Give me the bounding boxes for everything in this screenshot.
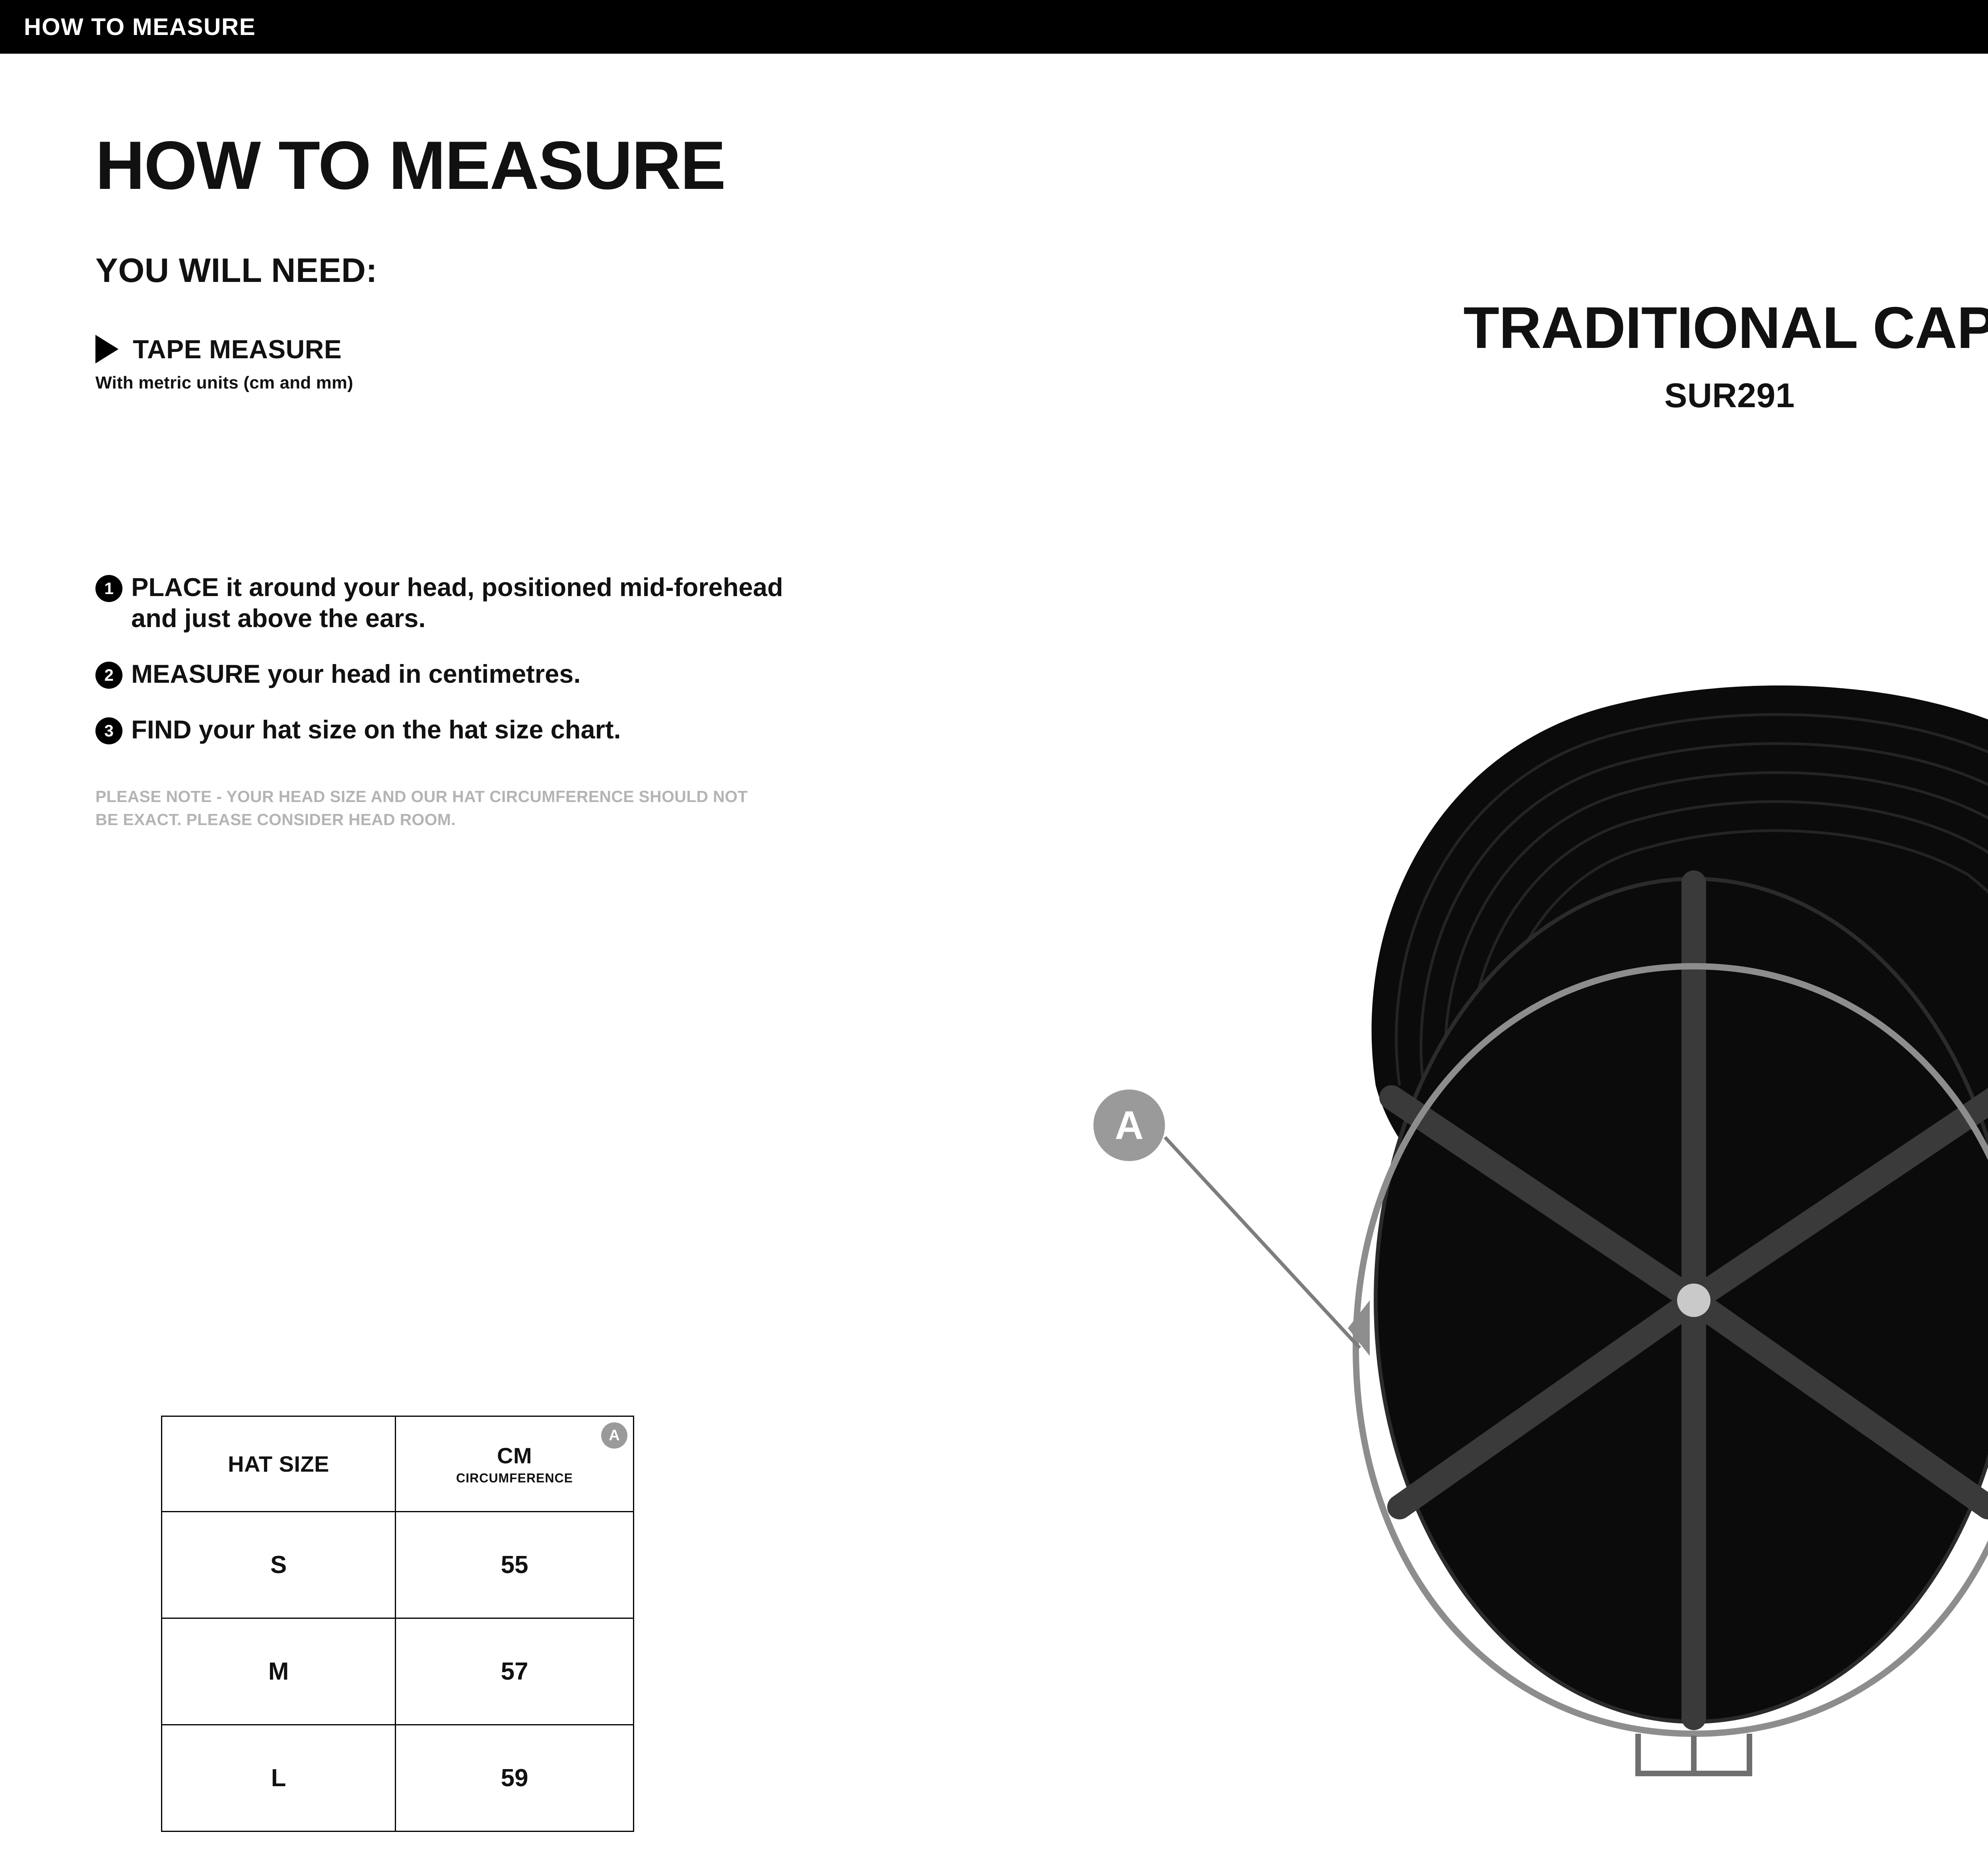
cell-cm: 55 <box>396 1512 634 1618</box>
table-row: M 57 <box>162 1618 634 1725</box>
list-item: 3 FIND your hat size on the hat size cha… <box>95 714 1010 745</box>
please-note-text: PLEASE NOTE - YOUR HEAD SIZE AND OUR HAT… <box>95 785 771 831</box>
cell-hat-size: L <box>162 1725 396 1832</box>
list-item: 1 PLACE it around your head, positioned … <box>95 572 1010 634</box>
top-bar: HOW TO MEASURE SS SURRIDGE <box>0 0 1988 54</box>
steps-list: 1 PLACE it around your head, positioned … <box>95 572 1010 745</box>
list-item: 2 MEASURE your head in centimetres. <box>95 658 1010 690</box>
table-row: L 59 <box>162 1725 634 1832</box>
product-code: SUR291 <box>1153 376 1988 416</box>
marker-a-leader-line <box>1165 1137 1360 1348</box>
step-text: MEASURE your head in centimetres. <box>131 658 581 690</box>
left-column: HOW TO MEASURE YOU WILL NEED: TAPE MEASU… <box>95 131 1010 831</box>
header-circumference-label: CIRCUMFERENCE <box>396 1471 633 1486</box>
page-title: HOW TO MEASURE <box>95 131 1010 200</box>
cell-hat-size: S <box>162 1512 396 1618</box>
tape-measure-sublabel: With metric units (cm and mm) <box>95 373 1010 393</box>
header-cm-circumference: CM CIRCUMFERENCE A <box>396 1416 634 1512</box>
step-number-badge: 1 <box>95 575 122 602</box>
cap-crown-group <box>1376 879 1988 1722</box>
cap-illustration-svg <box>1074 569 1988 1841</box>
cell-hat-size: M <box>162 1618 396 1725</box>
cap-button-icon <box>1677 1284 1710 1317</box>
tape-measure-item: TAPE MEASURE <box>95 334 1010 364</box>
triangle-right-icon <box>95 335 118 363</box>
cap-diagram: A <box>1074 569 1988 1841</box>
marker-a-badge: A <box>1093 1090 1165 1161</box>
step-text: FIND your hat size on the hat size chart… <box>131 714 621 745</box>
step-number-badge: 2 <box>95 662 122 689</box>
header-hat-size-label: HAT SIZE <box>163 1451 394 1477</box>
table-header-row: HAT SIZE CM CIRCUMFERENCE A <box>162 1416 634 1512</box>
step-text: PLACE it around your head, positioned mi… <box>131 572 807 634</box>
hat-size-table: HAT SIZE CM CIRCUMFERENCE A S 55 M 57 L … <box>161 1416 634 1832</box>
tape-measure-label: TAPE MEASURE <box>133 334 342 364</box>
you-will-need-heading: YOU WILL NEED: <box>95 251 1010 290</box>
step-number-badge: 3 <box>95 717 122 744</box>
marker-a-icon: A <box>601 1422 627 1449</box>
cell-cm: 59 <box>396 1725 634 1832</box>
top-bar-title: HOW TO MEASURE <box>24 13 256 41</box>
cell-cm: 57 <box>396 1618 634 1725</box>
header-cm-label: CM <box>396 1443 633 1468</box>
measure-tick-bracket <box>1638 1734 1749 1773</box>
table-row: S 55 <box>162 1512 634 1618</box>
product-name: TRADITIONAL CAP <box>1153 294 1988 362</box>
product-header: TRADITIONAL CAP SUR291 <box>1153 294 1988 416</box>
header-hat-size: HAT SIZE <box>162 1416 396 1512</box>
